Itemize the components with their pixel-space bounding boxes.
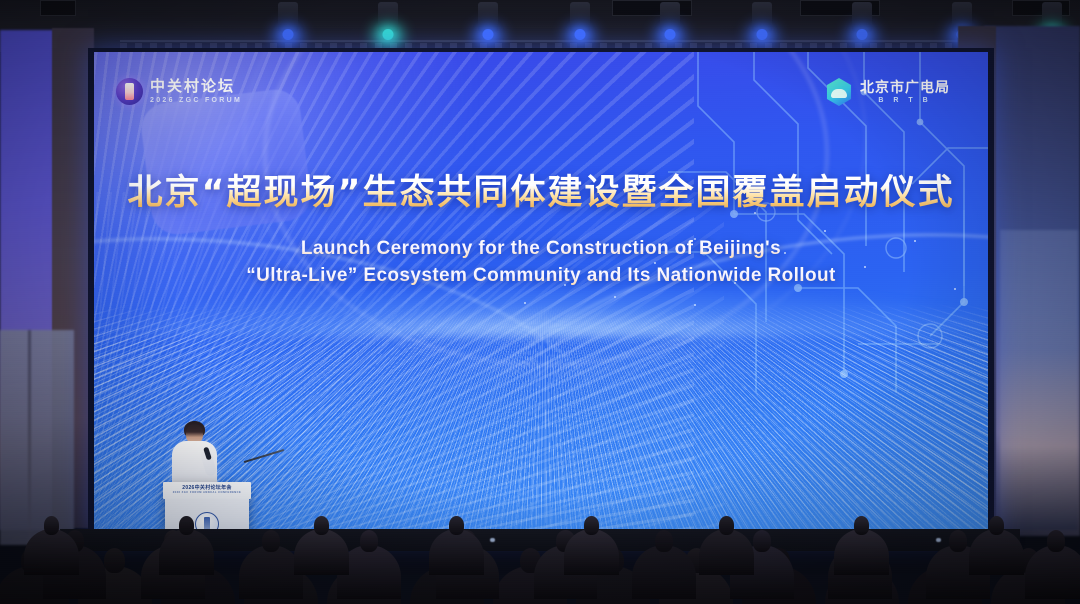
audience-member-head — [449, 516, 465, 535]
audience-member-head — [753, 530, 771, 552]
sparkle — [614, 296, 616, 298]
audience-member-head — [989, 516, 1005, 535]
audience-member-shoulders — [24, 529, 79, 575]
stage-light — [852, 2, 872, 32]
conference-hall-scene: 中关村论坛 2026 ZGC FORUM 北京市广电局 B R T B 北京“超… — [0, 0, 1080, 604]
audience-member-head — [655, 530, 673, 552]
zgc-forum-logo-cn: 中关村论坛 — [150, 79, 242, 94]
audience-member-shoulders — [159, 529, 214, 575]
brtb-logo: 北京市广电局 B R T B — [825, 78, 950, 106]
audience-member-shoulders — [294, 529, 349, 575]
stage-light — [378, 2, 398, 32]
sparkle — [954, 288, 956, 290]
audience-member-head — [44, 516, 60, 535]
stage-light — [660, 2, 680, 32]
audience-member-shoulders — [969, 529, 1024, 575]
sparkle — [824, 230, 826, 232]
audience-member-shoulders — [834, 529, 889, 575]
audience-member-shoulders — [564, 529, 619, 575]
slide-subtitle-line2: “Ultra-Live” Ecosystem Community and Its… — [94, 265, 988, 287]
audience-member-shoulders — [632, 545, 696, 598]
stage-light — [752, 2, 772, 32]
slide-title-cn: 北京“超现场”生态共同体建设暨全国覆盖启动仪式 — [94, 164, 988, 215]
slide-subtitle-line1: Launch Ceremony for the Construction of … — [94, 238, 988, 260]
brtb-logo-en: B R T B — [860, 97, 950, 104]
stage-light — [478, 2, 498, 32]
ceiling-box-mid — [612, 0, 692, 16]
audience-member-head — [314, 516, 330, 535]
sparkle — [694, 304, 696, 306]
audience-member-head — [104, 548, 125, 573]
audience-member-shoulders — [699, 529, 754, 575]
audience-member-head — [719, 516, 735, 535]
audience — [0, 430, 1080, 604]
sparkle — [654, 262, 656, 264]
audience-member-shoulders — [429, 529, 484, 575]
zgc-forum-logo: 中关村论坛 2026 ZGC FORUM — [116, 78, 242, 105]
brtb-logo-icon — [825, 78, 853, 106]
sparkle — [524, 302, 526, 304]
ceiling-box-left — [40, 0, 76, 16]
audience-member-head — [360, 530, 378, 552]
audience-member-head — [854, 516, 870, 535]
audience-member-head — [584, 516, 600, 535]
brtb-logo-cn: 北京市广电局 — [860, 80, 950, 94]
audience-member-head — [179, 516, 195, 535]
stage-light — [570, 2, 590, 32]
stage-light — [278, 2, 298, 32]
zgc-forum-logo-icon — [116, 78, 143, 105]
audience-member-head — [1047, 530, 1065, 552]
zgc-forum-logo-en: 2026 ZGC FORUM — [150, 97, 242, 104]
audience-member-head — [949, 530, 967, 552]
audience-member-head — [262, 530, 280, 552]
